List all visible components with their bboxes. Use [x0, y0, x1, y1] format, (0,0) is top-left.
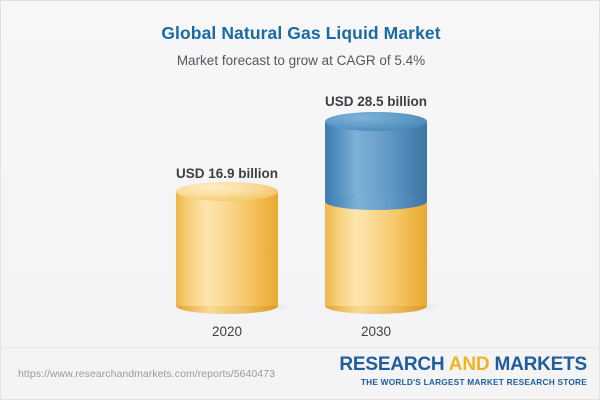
value-label-2030: USD 28.5 billion: [296, 94, 456, 109]
value-label-2020: USD 16.9 billion: [147, 166, 307, 181]
logo-tagline: THE WORLD'S LARGEST MARKET RESEARCH STOR…: [339, 377, 587, 387]
brand-logo: RESEARCH AND MARKETS THE WORLD'S LARGEST…: [339, 355, 587, 387]
logo-text-markets: MARKETS: [489, 354, 587, 375]
logo-wordmark: RESEARCH AND MARKETS: [339, 355, 587, 375]
bar-group-2030: USD 28.5 billion 2030: [296, 81, 456, 343]
plot-area: USD 16.9 billion 2020 USD 28.5 billion 2…: [1, 81, 600, 343]
chart-title: Global Natural Gas Liquid Market: [1, 23, 600, 44]
logo-text-research: RESEARCH: [339, 354, 448, 375]
footer: https://www.researchandmarkets.com/repor…: [1, 347, 600, 399]
cylinder-top-cap: [176, 182, 278, 201]
logo-text-and: AND: [449, 354, 490, 375]
category-label-2020: 2020: [147, 324, 307, 339]
cylinder-body-base: [176, 191, 278, 306]
chart-subtitle: Market forecast to grow at CAGR of 5.4%: [1, 53, 600, 68]
category-label-2030: 2030: [296, 324, 456, 339]
chart-card: Global Natural Gas Liquid Market Market …: [0, 0, 600, 400]
cylinder-top-cap: [325, 112, 427, 131]
cylinder-2030[interactable]: [325, 121, 427, 306]
cylinder-body-growth: [325, 121, 427, 201]
bar-group-2020: USD 16.9 billion 2020: [147, 81, 307, 343]
report-url[interactable]: https://www.researchandmarkets.com/repor…: [18, 368, 275, 380]
cylinder-segment-seam: [325, 193, 427, 210]
cylinder-body-base: [325, 201, 427, 306]
cylinder-2020[interactable]: [176, 191, 278, 306]
